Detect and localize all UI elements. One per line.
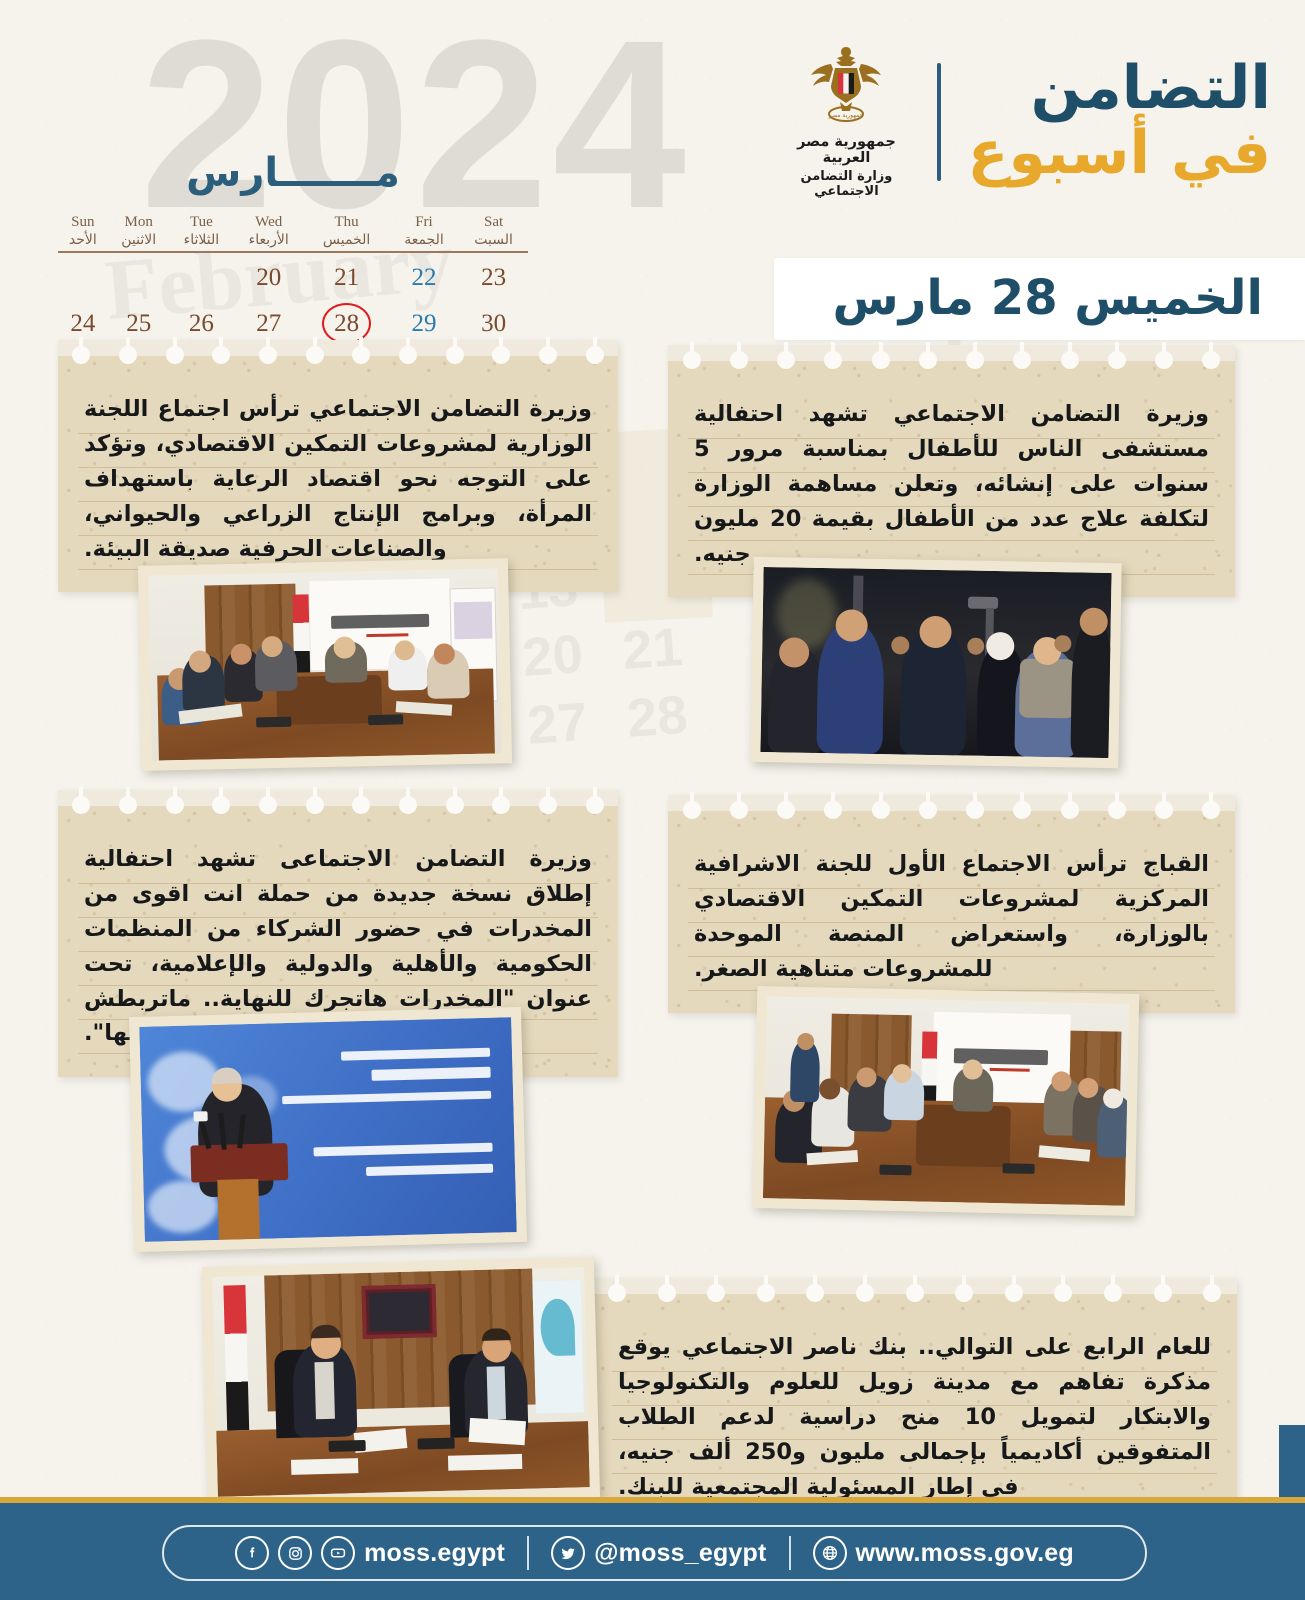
photo-hospital-celebration[interactable] <box>750 557 1122 768</box>
calendar-day[interactable] <box>170 252 233 297</box>
photo-2-image <box>760 567 1111 758</box>
calendar-weekday-fri: Fri الجمعة <box>389 214 459 252</box>
date-banner: الخميس 28 مارس <box>774 258 1305 340</box>
calendar: مـــــــارس Sun الأحد Mon الاثنين Tue ال… <box>58 150 528 345</box>
weekday-en: Mon <box>108 214 170 231</box>
title-line-2: في أسبوع <box>967 122 1271 185</box>
calendar-day[interactable]: 21 <box>304 252 388 297</box>
weekday-ar: الجمعة <box>389 232 459 248</box>
news-card-5: للعام الرابع على التوالي.. بنك ناصر الاج… <box>592 1278 1237 1530</box>
weekday-ar: الثلاثاء <box>170 232 233 248</box>
calendar-day[interactable]: 23 <box>459 252 528 297</box>
calendar-weekday-tue: Tue الثلاثاء <box>170 214 233 252</box>
social-links-bar: moss.egypt @moss_egypt www.moss.gov.eg <box>162 1525 1147 1581</box>
weekday-ar: الاثنين <box>108 232 170 248</box>
photo-5-image <box>212 1267 590 1497</box>
weekday-ar: السبت <box>459 232 528 248</box>
calendar-day[interactable]: 29 <box>389 297 459 345</box>
social-group-website[interactable]: www.moss.gov.eg <box>813 1536 1074 1570</box>
weekday-ar: الأحد <box>58 232 108 248</box>
footer: moss.egypt @moss_egypt www.moss.gov.eg <box>0 1503 1305 1600</box>
date-banner-text: الخميس 28 مارس <box>832 270 1263 326</box>
ministry-name-dept: وزارة التضامن الاجتماعي <box>781 169 911 199</box>
weekday-ar: الخميس <box>304 232 388 248</box>
calendar-weekday-thu: Thu الخميس <box>304 214 388 252</box>
social-group-twitter[interactable]: @moss_egypt <box>551 1536 766 1570</box>
news-card-1-text: وزيرة التضامن الاجتماعي ترأس اجتماع اللج… <box>84 392 592 566</box>
calendar-day[interactable]: 24 <box>58 297 108 345</box>
weekday-ar: الأربعاء <box>233 232 304 248</box>
news-card-4-text: القباج ترأس الاجتماع الأول للجنة الاشراف… <box>694 847 1209 987</box>
svg-text:جمهورية مصر: جمهورية مصر <box>828 112 864 119</box>
brand-row: التضامن في أسبوع جمهورية مصر جمهورية مصر <box>585 0 1305 199</box>
news-card-5-text: للعام الرابع على التوالي.. بنك ناصر الاج… <box>618 1330 1211 1504</box>
photo-4-image <box>763 996 1129 1206</box>
instagram-icon[interactable] <box>278 1536 312 1570</box>
calendar-weekday-wed: Wed الأربعاء <box>233 214 304 252</box>
photo-3-image <box>139 1017 517 1242</box>
calendar-header-row: Sun الأحد Mon الاثنين Tue الثلاثاء Wed ا… <box>58 214 528 252</box>
weekday-en: Thu <box>304 214 388 231</box>
news-card-4-body: القباج ترأس الاجتماع الأول للجنة الاشراف… <box>668 795 1235 1013</box>
photo-1-image <box>148 568 502 760</box>
photo-supervisory-committee[interactable] <box>753 986 1140 1216</box>
calendar-day[interactable]: 30 <box>459 297 528 345</box>
news-card-5-body: للعام الرابع على التوالي.. بنك ناصر الاج… <box>592 1278 1237 1530</box>
calendar-day[interactable]: 27 <box>233 297 304 345</box>
page-title: التضامن في أسبوع <box>967 58 1271 184</box>
calendar-day[interactable]: 26 <box>170 297 233 345</box>
photo-campaign-launch[interactable] <box>129 1007 527 1252</box>
ministry-name-country: جمهورية مصر العربية <box>781 134 911 166</box>
weekday-en: Sun <box>58 214 108 231</box>
photo-committee-meeting[interactable] <box>138 558 512 771</box>
social-group-pages[interactable]: moss.egypt <box>235 1536 505 1570</box>
twitter-icon[interactable] <box>551 1536 585 1570</box>
news-card-2-text: وزيرة التضامن الاجتماعي تشهد احتفالية مس… <box>694 397 1209 571</box>
calendar-week-row: 24 25 26 27 28 29 30 <box>58 297 528 345</box>
news-card-1-body: وزيرة التضامن الاجتماعي ترأس اجتماع اللج… <box>58 340 618 592</box>
footer-gold-line <box>0 1497 1305 1503</box>
weekday-en: Wed <box>233 214 304 231</box>
news-card-4: القباج ترأس الاجتماع الأول للجنة الاشراف… <box>668 795 1235 1013</box>
calendar-day[interactable] <box>58 252 108 297</box>
eagle-of-saladin-icon: جمهورية مصر <box>807 44 885 130</box>
calendar-weekday-sun: Sun الأحد <box>58 214 108 252</box>
twitter-handle[interactable]: @moss_egypt <box>594 1539 766 1568</box>
footer-separator <box>789 1536 791 1570</box>
wm-num: 27 <box>525 688 590 760</box>
website-url[interactable]: www.moss.gov.eg <box>856 1539 1074 1568</box>
wm-num: 28 <box>625 681 690 753</box>
weekday-en: Tue <box>170 214 233 231</box>
calendar-day-selected[interactable]: 28 <box>304 297 388 345</box>
calendar-day[interactable]: 22 <box>389 252 459 297</box>
facebook-icon[interactable] <box>235 1536 269 1570</box>
photo-mou-signing[interactable] <box>202 1257 600 1507</box>
wm-num: 21 <box>620 614 685 686</box>
calendar-weekday-sat: Sat السبت <box>459 214 528 252</box>
youtube-icon[interactable] <box>321 1536 355 1570</box>
social-handle-pages[interactable]: moss.egypt <box>364 1539 505 1568</box>
ministry-logo: جمهورية مصر جمهورية مصر العربية وزارة ال… <box>781 44 911 199</box>
title-line-1: التضامن <box>967 58 1271 119</box>
calendar-day[interactable]: 20 <box>233 252 304 297</box>
calendar-month-label: مـــــــارس <box>58 150 528 196</box>
calendar-week-row: 20 21 22 23 <box>58 252 528 297</box>
selected-day-circle: 28 <box>325 308 368 340</box>
title-divider <box>937 63 941 181</box>
weekday-en: Fri <box>389 214 459 231</box>
footer-separator <box>527 1536 529 1570</box>
weekday-en: Sat <box>459 214 528 231</box>
calendar-grid: Sun الأحد Mon الاثنين Tue الثلاثاء Wed ا… <box>58 214 528 345</box>
wm-num: 20 <box>520 621 585 693</box>
calendar-day[interactable] <box>108 252 170 297</box>
calendar-weekday-mon: Mon الاثنين <box>108 214 170 252</box>
news-card-1: وزيرة التضامن الاجتماعي ترأس اجتماع اللج… <box>58 340 618 592</box>
header: التضامن في أسبوع جمهورية مصر جمهورية مصر <box>585 0 1305 199</box>
calendar-day[interactable]: 25 <box>108 297 170 345</box>
globe-icon[interactable] <box>813 1536 847 1570</box>
